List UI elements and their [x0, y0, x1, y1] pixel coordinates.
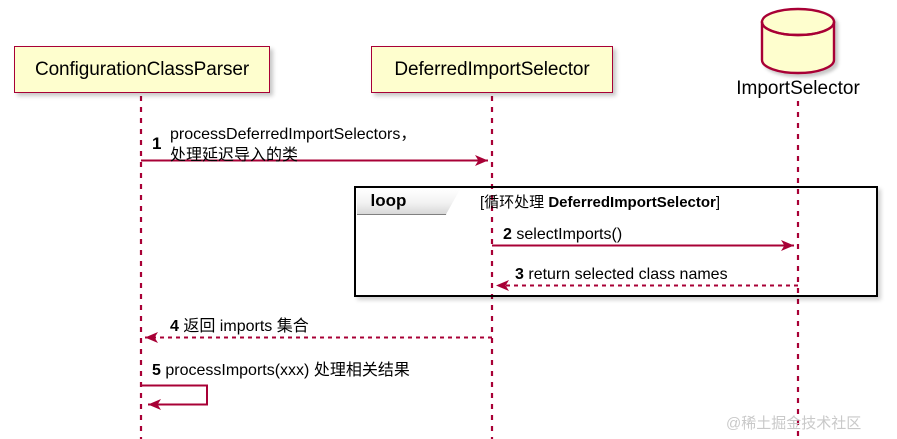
participant-label: ConfigurationClassParser	[35, 59, 249, 81]
loop-fragment-tab: loop	[357, 189, 461, 215]
message-label-5: 5 processImports(xxx) 处理相关结果	[152, 361, 410, 380]
sequence-diagram-canvas: ConfigurationClassParser DeferredImportS…	[0, 0, 897, 439]
message-label-3: 3 return selected class names	[515, 265, 728, 284]
message-number-5: 5	[152, 362, 161, 379]
participant-configuration-class-parser[interactable]: ConfigurationClassParser	[14, 46, 270, 93]
message-text-5: processImports(xxx) 处理相关结果	[165, 362, 409, 379]
participant-import-selector[interactable]: ImportSelector	[708, 0, 888, 100]
participant-deferred-import-selector[interactable]: DeferredImportSelector	[371, 46, 613, 93]
loop-guard-prefix: [循环处理	[480, 194, 548, 211]
message-text-2: selectImports()	[516, 226, 622, 243]
loop-guard-label: [循环处理 DeferredImportSelector]	[480, 191, 720, 212]
message-label-4: 4 返回 imports 集合	[170, 317, 309, 336]
message-number-1: 1	[152, 134, 161, 154]
watermark: @稀土掘金技术社区	[726, 412, 861, 433]
message-text-4: 返回 imports 集合	[183, 318, 308, 335]
loop-keyword-label: loop	[371, 191, 407, 211]
message-number-2: 2	[503, 226, 512, 243]
message-number-4: 4	[170, 318, 179, 335]
message-label-2: 2 selectImports()	[503, 225, 622, 244]
message-text-3: return selected class names	[528, 266, 727, 283]
message-arrow-5-self	[141, 386, 207, 405]
participant-label: ImportSelector	[736, 78, 860, 100]
loop-guard-bold: DeferredImportSelector	[548, 194, 716, 211]
loop-guard-suffix: ]	[716, 194, 720, 211]
message-number-3: 3	[515, 266, 524, 283]
participant-label: DeferredImportSelector	[394, 59, 589, 81]
message-text-1-line2: 处理延迟导入的类	[170, 141, 298, 165]
